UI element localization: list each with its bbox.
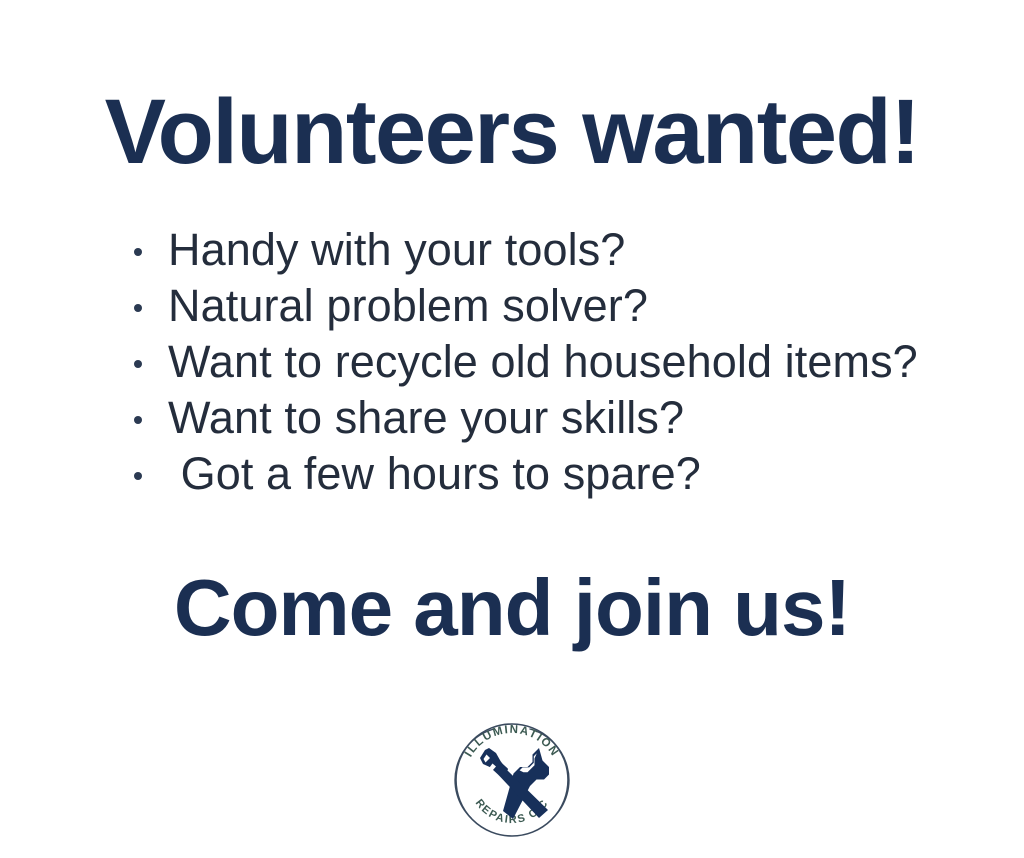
logo: ILLUMINATION REPAIRS CIC [447,706,577,846]
list-item: Handy with your tools? [128,222,988,278]
poster-canvas: Volunteers wanted! Handy with your tools… [0,0,1024,858]
list-item: Natural problem solver? [128,278,988,334]
call-to-action-text: Come and join us! [0,568,1024,648]
list-item: Want to recycle old household items? [128,334,988,390]
list-item: Got a few hours to spare? [128,446,988,502]
benefits-list: Handy with your tools? Natural problem s… [128,222,988,502]
logo-badge: ILLUMINATION REPAIRS CIC [447,706,577,846]
page-title: Volunteers wanted! [0,86,1024,178]
list-item: Want to share your skills? [128,390,988,446]
